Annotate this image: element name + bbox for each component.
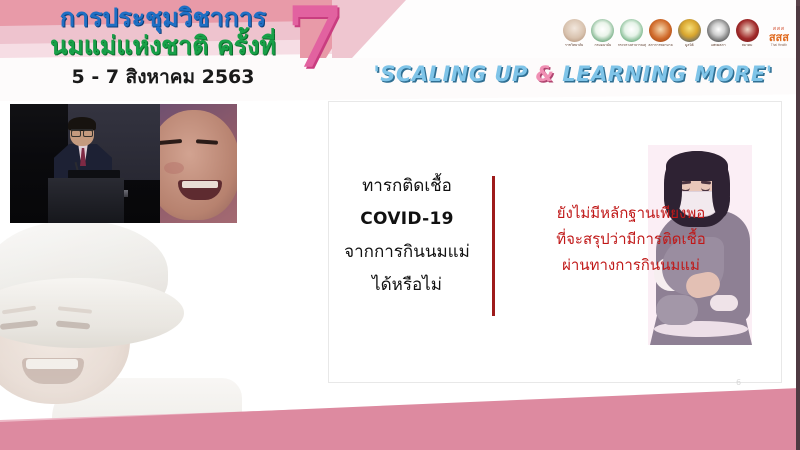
royal-crest-logo: มูลนิธิ: [675, 19, 703, 53]
question-line-3: จากการกินนมแม่: [332, 236, 482, 269]
question-disease-name: COVID-19: [332, 203, 482, 236]
ministry-public-health-logo: กรมอนามัย: [589, 19, 617, 53]
window-right-edge: [796, 0, 800, 450]
conference-title-line2: นมแม่แห่งชาติ ครั้งที่: [18, 32, 308, 60]
child-photo-fade-overlay: [0, 218, 268, 423]
conference-header-banner: การประชุมวิชาการ นมแม่แห่งชาติ ครั้งที่ …: [0, 0, 800, 101]
red-crest-caption: สมาคม: [733, 43, 761, 47]
thaihealth-sss-logo: สสส สสส Thai Health: [762, 19, 796, 53]
health-department-caption: กระทรวงสาธารณสุข: [618, 43, 646, 47]
royal-seal-caption: ราชวิทยาลัย: [560, 43, 588, 47]
slogan-part1: 'SCALING UP: [373, 62, 535, 86]
ministry-caption: กรมอนามัย: [589, 43, 617, 47]
question-text-block: ทารกติดเชื้อ COVID-19 จากการกินนมแม่ ได้…: [332, 170, 482, 302]
answer-line-1: ยังไม่มีหลักฐานเพียงพอ: [500, 200, 762, 226]
sss-subtitle: Thai Health: [771, 43, 787, 47]
answer-text-block: ยังไม่มีหลักฐานเพียงพอ ที่จะสรุปว่ามีการ…: [500, 200, 762, 278]
question-line-4: ได้หรือไม่: [332, 269, 482, 302]
question-line-1: ทารกติดเชื้อ: [332, 170, 482, 203]
window-top-right-edge: [796, 0, 800, 6]
sponsor-logo-row: ราชวิทยาลัย กรมอนามัย กระทรวงสาธารณสุข ส…: [560, 16, 796, 56]
baby-cheek: [164, 162, 184, 174]
red-crest-logo: สมาคม: [733, 19, 761, 53]
mother-foot: [710, 295, 738, 311]
black-seal-icon: [707, 19, 730, 42]
answer-line-2: ที่จะสรุปว่ามีการติดเชื้อ: [500, 226, 762, 252]
conference-slogan: 'SCALING UP & LEARNING MORE': [358, 62, 788, 86]
conference-title: การประชุมวิชาการ นมแม่แห่งชาติ ครั้งที่: [18, 4, 308, 60]
slide-page-number: 6: [736, 378, 741, 387]
conference-dates: 5 - 7 สิงหาคม 2563: [18, 62, 308, 92]
black-seal-caption: แพทยสภา: [704, 43, 732, 47]
black-seal-logo: แพทยสภา: [704, 19, 732, 53]
slogan-part2: LEARNING MORE': [554, 62, 772, 86]
smiling-child-photo: [0, 218, 268, 423]
baby-teeth: [182, 181, 218, 188]
thai-emblem-caption: สภาการพยาบาล: [647, 43, 675, 47]
royal-crest-icon: [678, 19, 701, 42]
red-crest-icon: [736, 19, 759, 42]
mother-knee: [656, 295, 698, 325]
presentation-slide: การประชุมวิชาการ นมแม่แห่งชาติ ครั้งที่ …: [0, 0, 800, 450]
health-department-logo: กระทรวงสาธารณสุข: [618, 19, 646, 53]
answer-line-3: ผ่านทางการกินนมแม่: [500, 252, 762, 278]
royal-seal-logo: ราชวิทยาลัย: [560, 19, 588, 53]
speaker-video-feed[interactable]: [10, 104, 237, 223]
sss-wordmark: สสส: [769, 32, 789, 43]
ministry-public-health-icon: [591, 19, 614, 42]
thai-emblem-orange-icon: [649, 19, 672, 42]
thai-emblem-orange-logo: สภาการพยาบาล: [647, 19, 675, 53]
conference-title-line1: การประชุมวิชาการ: [18, 4, 308, 32]
royal-crest-caption: มูลนิธิ: [675, 43, 703, 47]
slogan-ampersand: &: [536, 62, 555, 86]
royal-seal-icon: [563, 19, 586, 42]
health-department-icon: [620, 19, 643, 42]
baby-face-photo: [160, 104, 237, 223]
speaker-podium: [48, 178, 124, 223]
speaker-glasses-icon: [71, 129, 93, 135]
vertical-red-divider: [492, 176, 495, 316]
